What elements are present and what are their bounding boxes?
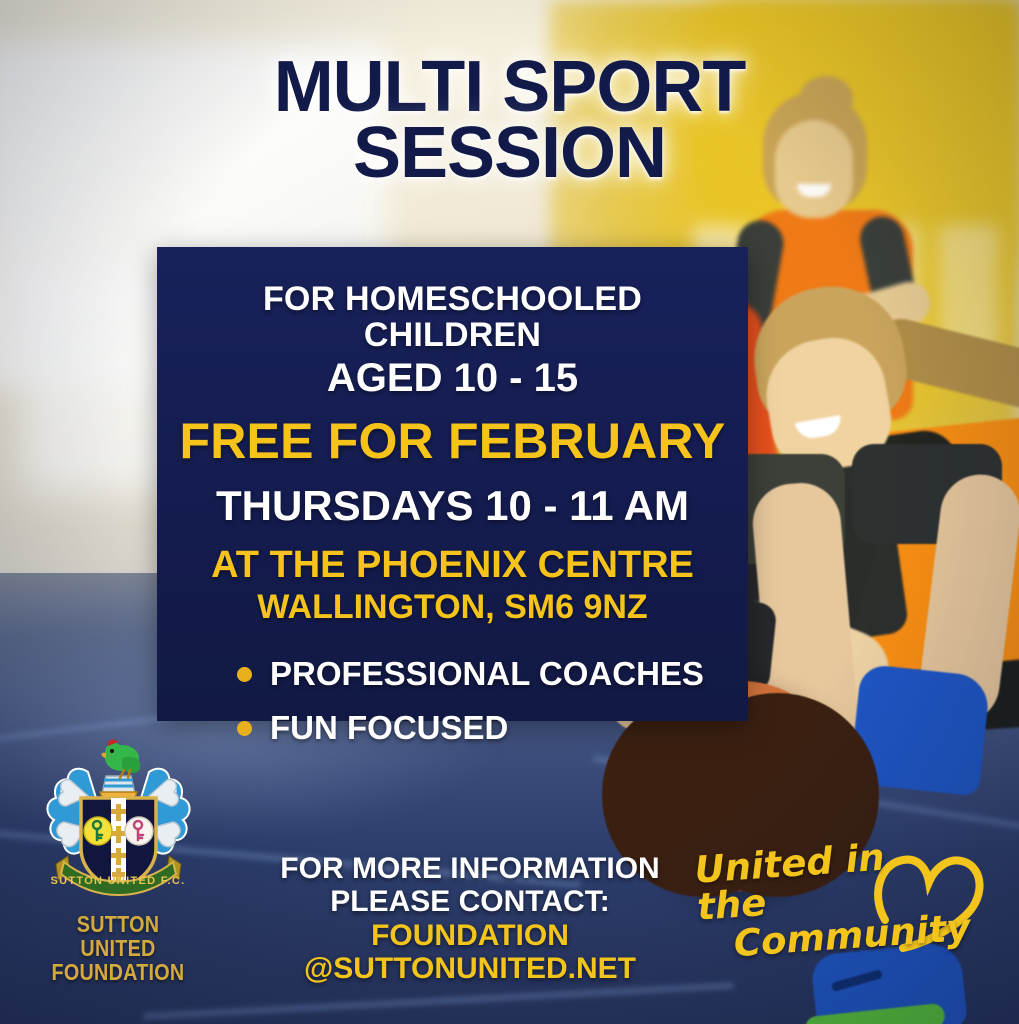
- list-item: PROFESSIONAL COACHES: [237, 655, 726, 693]
- parrot-icon: [101, 739, 140, 778]
- foundation-name: SUTTON UNITED FOUNDATION: [41, 912, 196, 984]
- info-panel: FOR HOMESCHOOLED CHILDREN AGED 10 - 15 F…: [157, 247, 748, 721]
- contact-block: FOR MORE INFORMATION PLEASE CONTACT: FOU…: [270, 852, 670, 986]
- strapline-block: United in the Community: [697, 822, 997, 972]
- address-line: WALLINGTON, SM6 9NZ: [179, 589, 726, 625]
- venue-line: AT THE PHOENIX CENTRE: [179, 545, 726, 585]
- features-list: PROFESSIONAL COACHES FUN FOCUSED: [237, 655, 726, 747]
- strapline-text: United in the Community: [693, 834, 950, 964]
- contact-email-line-2: @SUTTONUNITED.NET: [270, 952, 670, 986]
- list-item: FUN FOCUSED: [237, 709, 726, 747]
- sutton-united-crest-icon: SUTTON UNITED F.C.: [36, 728, 201, 908]
- offer-line: FREE FOR FEBRUARY: [179, 415, 726, 468]
- contact-email-line-1: FOUNDATION: [270, 919, 670, 953]
- poster: MULTI SPORT SESSION FOR HOMESCHOOLED CHI…: [0, 0, 1019, 1024]
- contact-line-1: FOR MORE INFORMATION: [270, 852, 670, 886]
- bullet-dot-icon: [237, 721, 252, 736]
- list-item-label: FUN FOCUSED: [270, 709, 508, 747]
- bullet-dot-icon: [237, 667, 252, 682]
- age-range-line: AGED 10 - 15: [179, 357, 726, 399]
- foundation-logo: SUTTON UNITED F.C. SUTTON UNITED FOUNDAT…: [28, 728, 208, 984]
- schedule-line: THURSDAYS 10 - 11 AM: [179, 484, 726, 529]
- crest-ribbon-text: SUTTON UNITED F.C.: [50, 875, 185, 887]
- list-item-label: PROFESSIONAL COACHES: [270, 655, 704, 693]
- contact-line-2: PLEASE CONTACT:: [270, 885, 670, 919]
- crest-svg: SUTTON UNITED F.C.: [36, 728, 201, 908]
- audience-line: FOR HOMESCHOOLED CHILDREN: [179, 281, 726, 353]
- page-title: MULTI SPORT SESSION: [0, 54, 1019, 186]
